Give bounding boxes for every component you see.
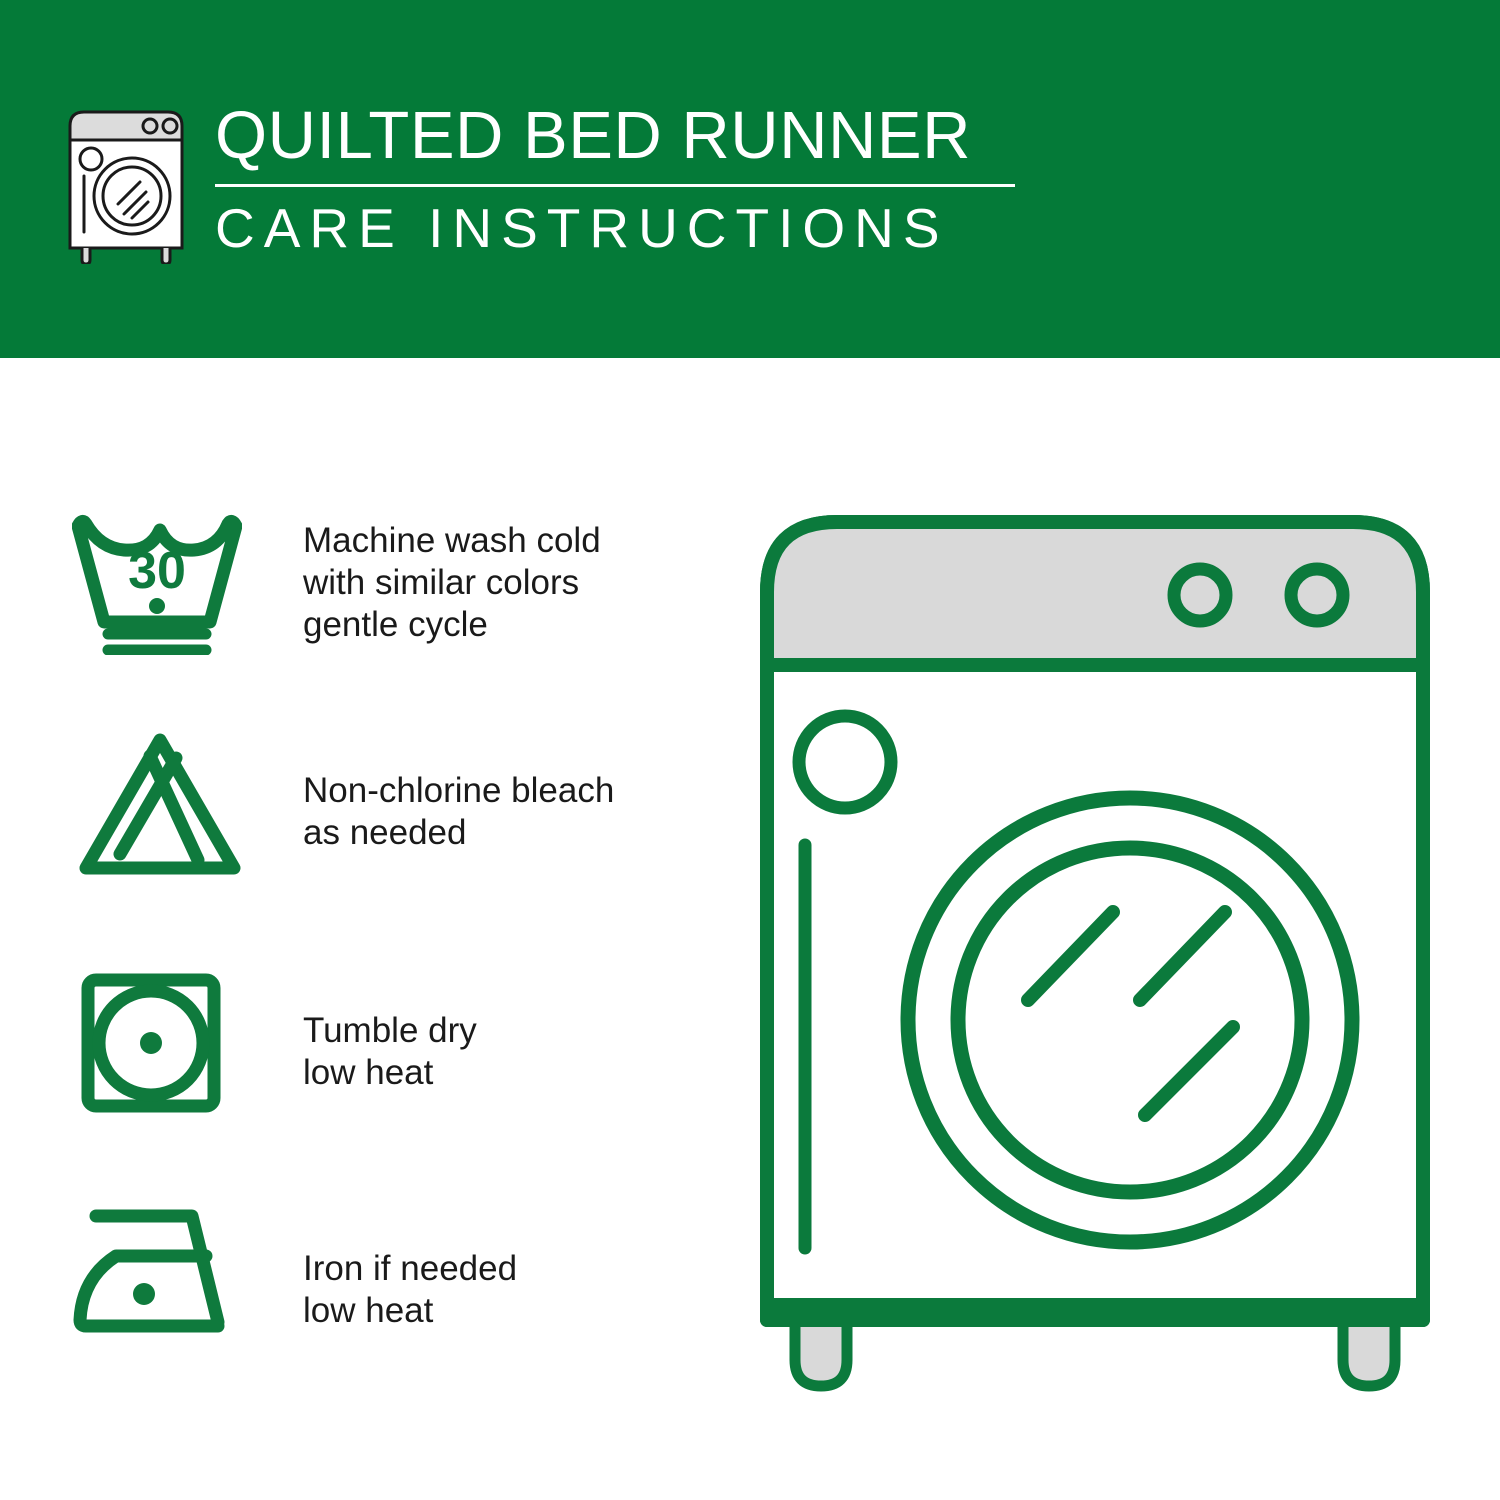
tumble-dry-low-heat-icon [72, 970, 242, 1120]
header-divider [215, 184, 1015, 187]
iron-low-heat-icon [72, 1200, 242, 1350]
care-instruction-row: Non-chlorine bleach as needed [0, 730, 660, 890]
header-banner: QUILTED BED RUNNER CARE INSTRUCTIONS [0, 0, 1500, 358]
care-instruction-row: Tumble dry low heat [0, 970, 660, 1130]
washing-machine-illustration [745, 500, 1445, 1420]
care-instruction-list: 30 Machine wash cold with similar colors… [0, 358, 700, 1500]
care-instruction-label: Non-chlorine bleach as needed [303, 770, 614, 854]
header-text-block: QUILTED BED RUNNER CARE INSTRUCTIONS [215, 98, 1035, 259]
care-instruction-label: Machine wash cold with similar colors ge… [303, 520, 601, 646]
page-title: QUILTED BED RUNNER [215, 98, 1035, 174]
care-instruction-row: 30 Machine wash cold with similar colors… [0, 510, 660, 690]
svg-text:30: 30 [128, 542, 186, 600]
wash-tub-30-gentle-icon: 30 [72, 510, 242, 660]
care-instructions-page: QUILTED BED RUNNER CARE INSTRUCTIONS 30 [0, 0, 1500, 1500]
page-subtitle: CARE INSTRUCTIONS [215, 197, 1035, 259]
washing-machine-icon [62, 104, 192, 264]
care-instruction-label: Iron if needed low heat [303, 1248, 517, 1332]
control-panel [767, 522, 1423, 665]
care-instruction-row: Iron if needed low heat [0, 1200, 660, 1360]
care-instruction-label: Tumble dry low heat [303, 1010, 477, 1094]
non-chlorine-bleach-triangle-icon [72, 730, 242, 880]
